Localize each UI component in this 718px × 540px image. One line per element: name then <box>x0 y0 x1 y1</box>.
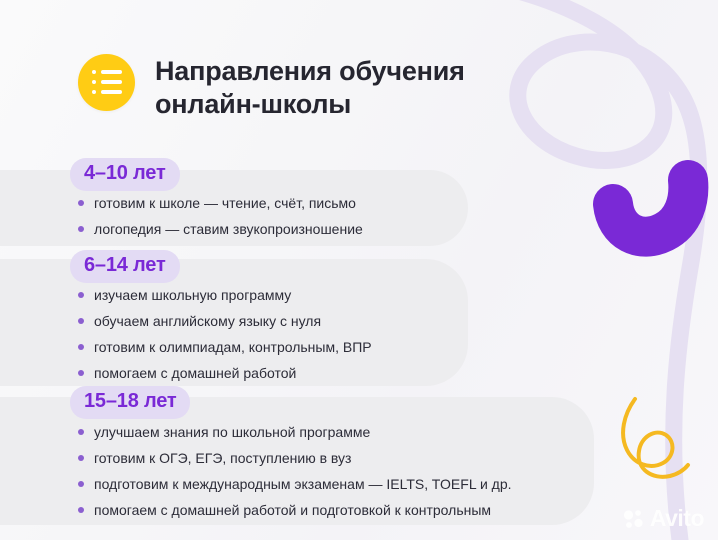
bullet-dot-icon <box>78 344 84 350</box>
list-item: изучаем школьную программу <box>78 288 372 302</box>
avito-watermark: Avito <box>623 507 704 530</box>
age-badge-1: 4–10 лет <box>70 158 180 191</box>
bullet-dot-icon <box>78 455 84 461</box>
list-icon-bar <box>101 80 122 84</box>
list-icon-dot <box>92 70 96 74</box>
bulleted-list-icon <box>78 54 135 111</box>
list-item: готовим к школе — чтение, счёт, письмо <box>78 196 363 210</box>
list-item: улучшаем знания по школьной программе <box>78 425 512 439</box>
list-icon-dot <box>92 90 96 94</box>
feature-list-1: готовим к школе — чтение, счёт, письмо л… <box>78 196 363 236</box>
age-badge-3: 15–18 лет <box>70 386 190 419</box>
feature-list-3: улучшаем знания по школьной программе го… <box>78 425 512 517</box>
list-item: помогаем с домашней работой <box>78 366 372 380</box>
page-title: Направления обучения онлайн-школы <box>155 54 465 122</box>
bullet-dot-icon <box>78 370 84 376</box>
list-item: обучаем английскому языку с нуля <box>78 314 372 328</box>
avito-dots-icon <box>623 508 645 530</box>
list-item: готовим к ОГЭ, ЕГЭ, поступлению в вуз <box>78 451 512 465</box>
purple-hook-shape-icon <box>613 180 688 237</box>
list-item-label: помогаем с домашней работой <box>94 366 296 380</box>
list-item-label: логопедия — ставим звукопроизношение <box>94 222 363 236</box>
feature-list-2: изучаем школьную программу обучаем англи… <box>78 288 372 380</box>
bullet-dot-icon <box>78 429 84 435</box>
bullet-dot-icon <box>78 200 84 206</box>
list-item: готовим к олимпиадам, контрольным, ВПР <box>78 340 372 354</box>
bullet-dot-icon <box>78 507 84 513</box>
list-item-label: готовим к школе — чтение, счёт, письмо <box>94 196 356 210</box>
list-item-label: подготовим к международным экзаменам — I… <box>94 477 512 491</box>
bullet-dot-icon <box>78 481 84 487</box>
list-item: помогаем с домашней работой и подготовко… <box>78 503 512 517</box>
list-icon-dot <box>92 80 96 84</box>
list-item-label: готовим к ОГЭ, ЕГЭ, поступлению в вуз <box>94 451 351 465</box>
list-item-label: изучаем школьную программу <box>94 288 291 302</box>
list-item: подготовим к международным экзаменам — I… <box>78 477 512 491</box>
header: Направления обучения онлайн-школы <box>78 54 465 122</box>
yellow-cursive-squiggle-icon <box>623 399 688 477</box>
avito-wordmark: Avito <box>650 507 704 530</box>
list-item-label: готовим к олимпиадам, контрольным, ВПР <box>94 340 372 354</box>
list-icon-bar <box>101 70 122 74</box>
list-item-label: улучшаем знания по школьной программе <box>94 425 370 439</box>
age-badge-2: 6–14 лет <box>70 250 180 283</box>
bullet-dot-icon <box>78 318 84 324</box>
bullet-dot-icon <box>78 226 84 232</box>
list-item: логопедия — ставим звукопроизношение <box>78 222 363 236</box>
poster-canvas: Направления обучения онлайн-школы 4–10 л… <box>0 0 718 540</box>
list-item-label: обучаем английскому языку с нуля <box>94 314 321 328</box>
list-icon-bar <box>101 90 122 94</box>
bullet-dot-icon <box>78 292 84 298</box>
list-item-label: помогаем с домашней работой и подготовко… <box>94 503 491 517</box>
